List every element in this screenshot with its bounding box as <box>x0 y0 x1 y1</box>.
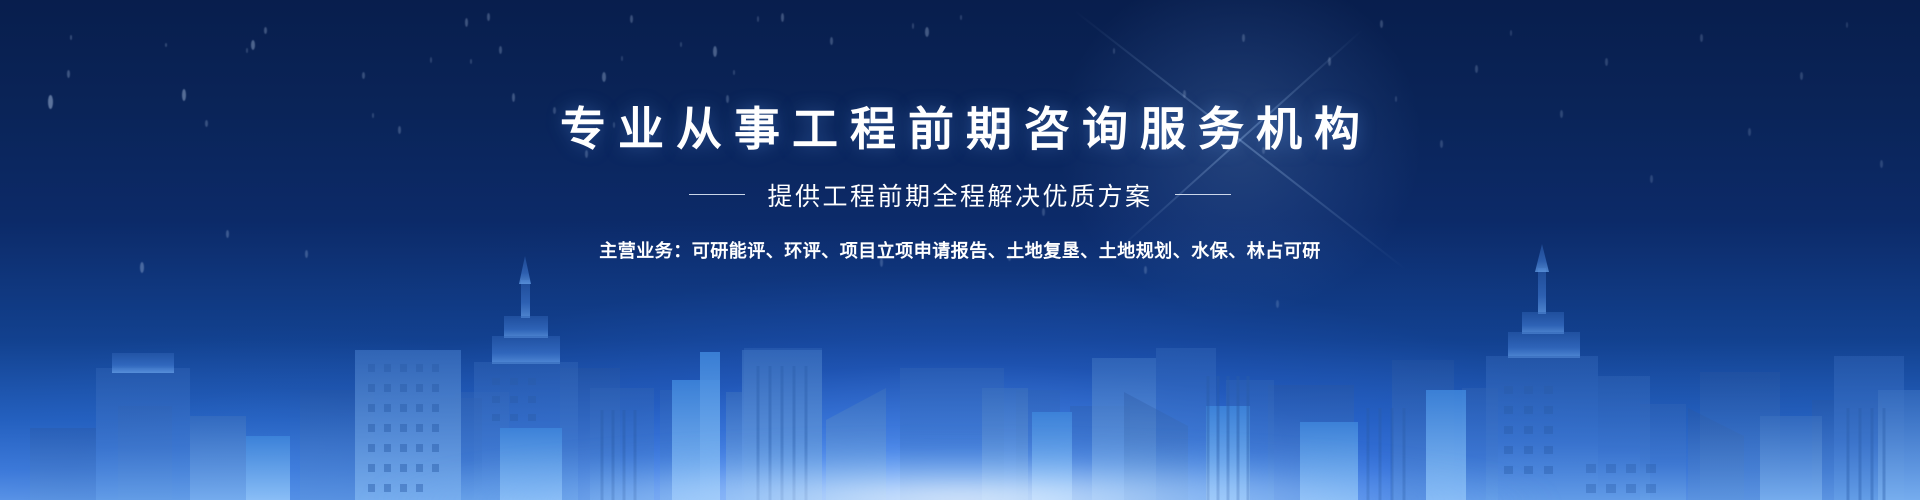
hero-banner: 专业从事工程前期咨询服务机构 提供工程前期全程解决优质方案 主营业务：可研能评、… <box>0 0 1920 500</box>
page-title: 专业从事工程前期咨询服务机构 <box>0 104 1920 155</box>
rule-left-icon <box>689 194 745 195</box>
page-subtitle: 提供工程前期全程解决优质方案 <box>767 177 1152 213</box>
hero-text-block: 专业从事工程前期咨询服务机构 提供工程前期全程解决优质方案 主营业务：可研能评、… <box>0 104 1920 263</box>
city-skyline <box>0 240 1920 500</box>
subtitle-row: 提供工程前期全程解决优质方案 <box>0 177 1920 213</box>
rule-right-icon <box>1175 194 1231 195</box>
business-scope-text: 主营业务：可研能评、环评、项目立项申请报告、土地复垦、土地规划、水保、林占可研 <box>0 237 1920 263</box>
